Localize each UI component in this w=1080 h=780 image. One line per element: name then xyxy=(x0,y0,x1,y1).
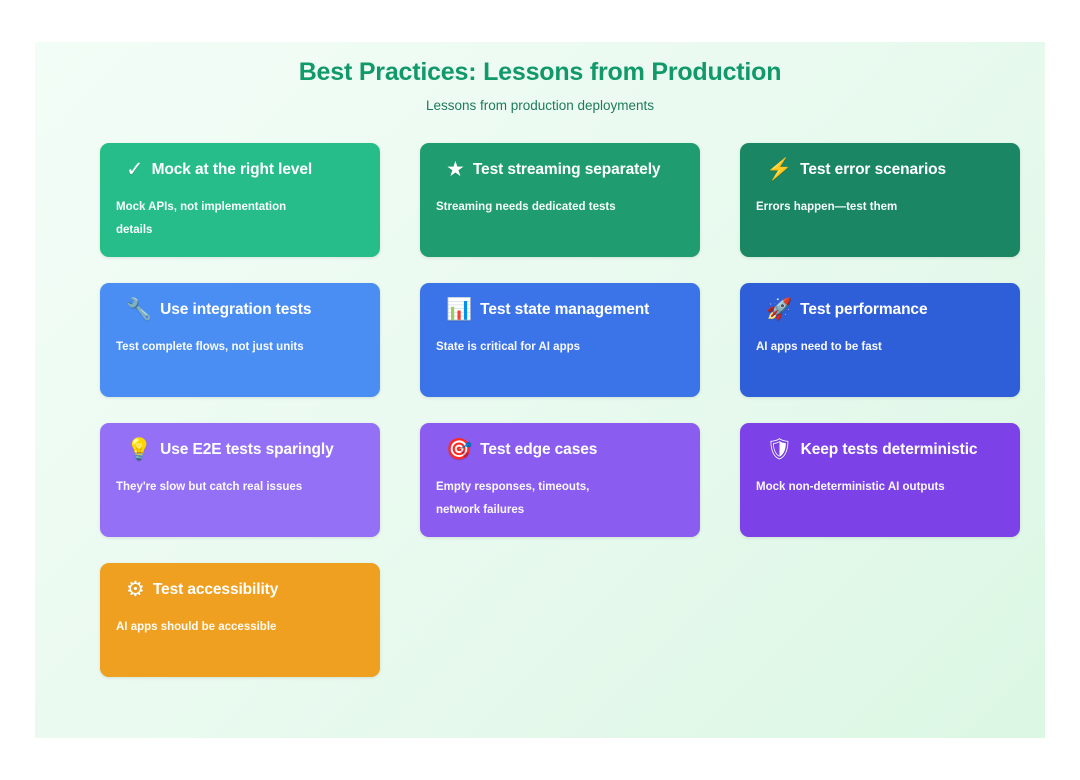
practice-card-header: 🚀Test performance xyxy=(756,297,1004,323)
lightbulb-icon: 💡 xyxy=(126,437,152,463)
practice-card[interactable]: 📊Test state managementState is critical … xyxy=(420,283,700,397)
gear-icon: ⚙ xyxy=(126,577,145,603)
practice-card-title: Test state management xyxy=(480,300,649,320)
practice-card-header: 🛡Keep tests deterministic xyxy=(756,437,1004,463)
best-practices-card-grid: ✓Mock at the right levelMock APIs, not i… xyxy=(100,143,1020,677)
practice-card-header: ★Test streaming separately xyxy=(436,157,684,183)
practice-card[interactable]: 🛡Keep tests deterministicMock non-determ… xyxy=(740,423,1020,537)
practice-card[interactable]: ⚡Test error scenariosErrors happen—test … xyxy=(740,143,1020,257)
practice-card-header: ⚡Test error scenarios xyxy=(756,157,1004,183)
practice-card-title: Test edge cases xyxy=(480,440,597,460)
bar-chart-icon: 📊 xyxy=(446,297,472,323)
practice-card-title: Mock at the right level xyxy=(152,160,313,180)
practice-card[interactable]: 🚀Test performanceAI apps need to be fast xyxy=(740,283,1020,397)
check-icon: ✓ xyxy=(126,157,144,183)
practice-card-title: Test accessibility xyxy=(153,580,278,600)
practice-card-description: They're slow but catch real issues xyxy=(116,476,316,499)
star-icon: ★ xyxy=(446,157,465,183)
content-panel: Best Practices: Lessons from Production … xyxy=(35,42,1045,738)
practice-card-header: 💡Use E2E tests sparingly xyxy=(116,437,364,463)
practice-card-title: Test streaming separately xyxy=(473,160,661,180)
practice-card[interactable]: 🎯Test edge casesEmpty responses, timeout… xyxy=(420,423,700,537)
practice-card-description: Streaming needs dedicated tests xyxy=(436,196,636,219)
page-subtitle: Lessons from production deployments xyxy=(35,97,1045,115)
practice-card-description: Test complete flows, not just units xyxy=(116,336,316,359)
practice-card-description: Empty responses, timeouts, network failu… xyxy=(436,476,636,522)
practice-card-title: Test error scenarios xyxy=(800,160,946,180)
practice-card-header: 📊Test state management xyxy=(436,297,684,323)
practice-card-description: AI apps need to be fast xyxy=(756,336,956,359)
practice-card-header: ✓Mock at the right level xyxy=(116,157,364,183)
practice-card-description: Mock non-deterministic AI outputs xyxy=(756,476,956,499)
practice-card-title: Test performance xyxy=(800,300,927,320)
practice-card-description: Mock APIs, not implementation details xyxy=(116,196,316,242)
practice-card[interactable]: ⚙Test accessibilityAI apps should be acc… xyxy=(100,563,380,677)
practice-card-description: AI apps should be accessible xyxy=(116,616,316,639)
rocket-icon: 🚀 xyxy=(766,297,792,323)
lightning-bolt-icon: ⚡ xyxy=(766,157,792,183)
page-title: Best Practices: Lessons from Production xyxy=(35,57,1045,87)
wrench-icon: 🔧 xyxy=(126,297,152,323)
practice-card-title: Use E2E tests sparingly xyxy=(160,440,333,460)
target-icon: 🎯 xyxy=(446,437,472,463)
header: Best Practices: Lessons from Production … xyxy=(35,42,1045,115)
practice-card-description: Errors happen—test them xyxy=(756,196,956,219)
practice-card-header: 🔧Use integration tests xyxy=(116,297,364,323)
practice-card-description: State is critical for AI apps xyxy=(436,336,636,359)
practice-card-header: 🎯Test edge cases xyxy=(436,437,684,463)
practice-card-header: ⚙Test accessibility xyxy=(116,577,364,603)
practice-card[interactable]: 🔧Use integration testsTest complete flow… xyxy=(100,283,380,397)
practice-card[interactable]: 💡Use E2E tests sparinglyThey're slow but… xyxy=(100,423,380,537)
practice-card-title: Keep tests deterministic xyxy=(801,440,978,460)
practice-card-title: Use integration tests xyxy=(160,300,311,320)
practice-card[interactable]: ★Test streaming separatelyStreaming need… xyxy=(420,143,700,257)
shield-icon: 🛡 xyxy=(766,437,793,463)
practice-card[interactable]: ✓Mock at the right levelMock APIs, not i… xyxy=(100,143,380,257)
